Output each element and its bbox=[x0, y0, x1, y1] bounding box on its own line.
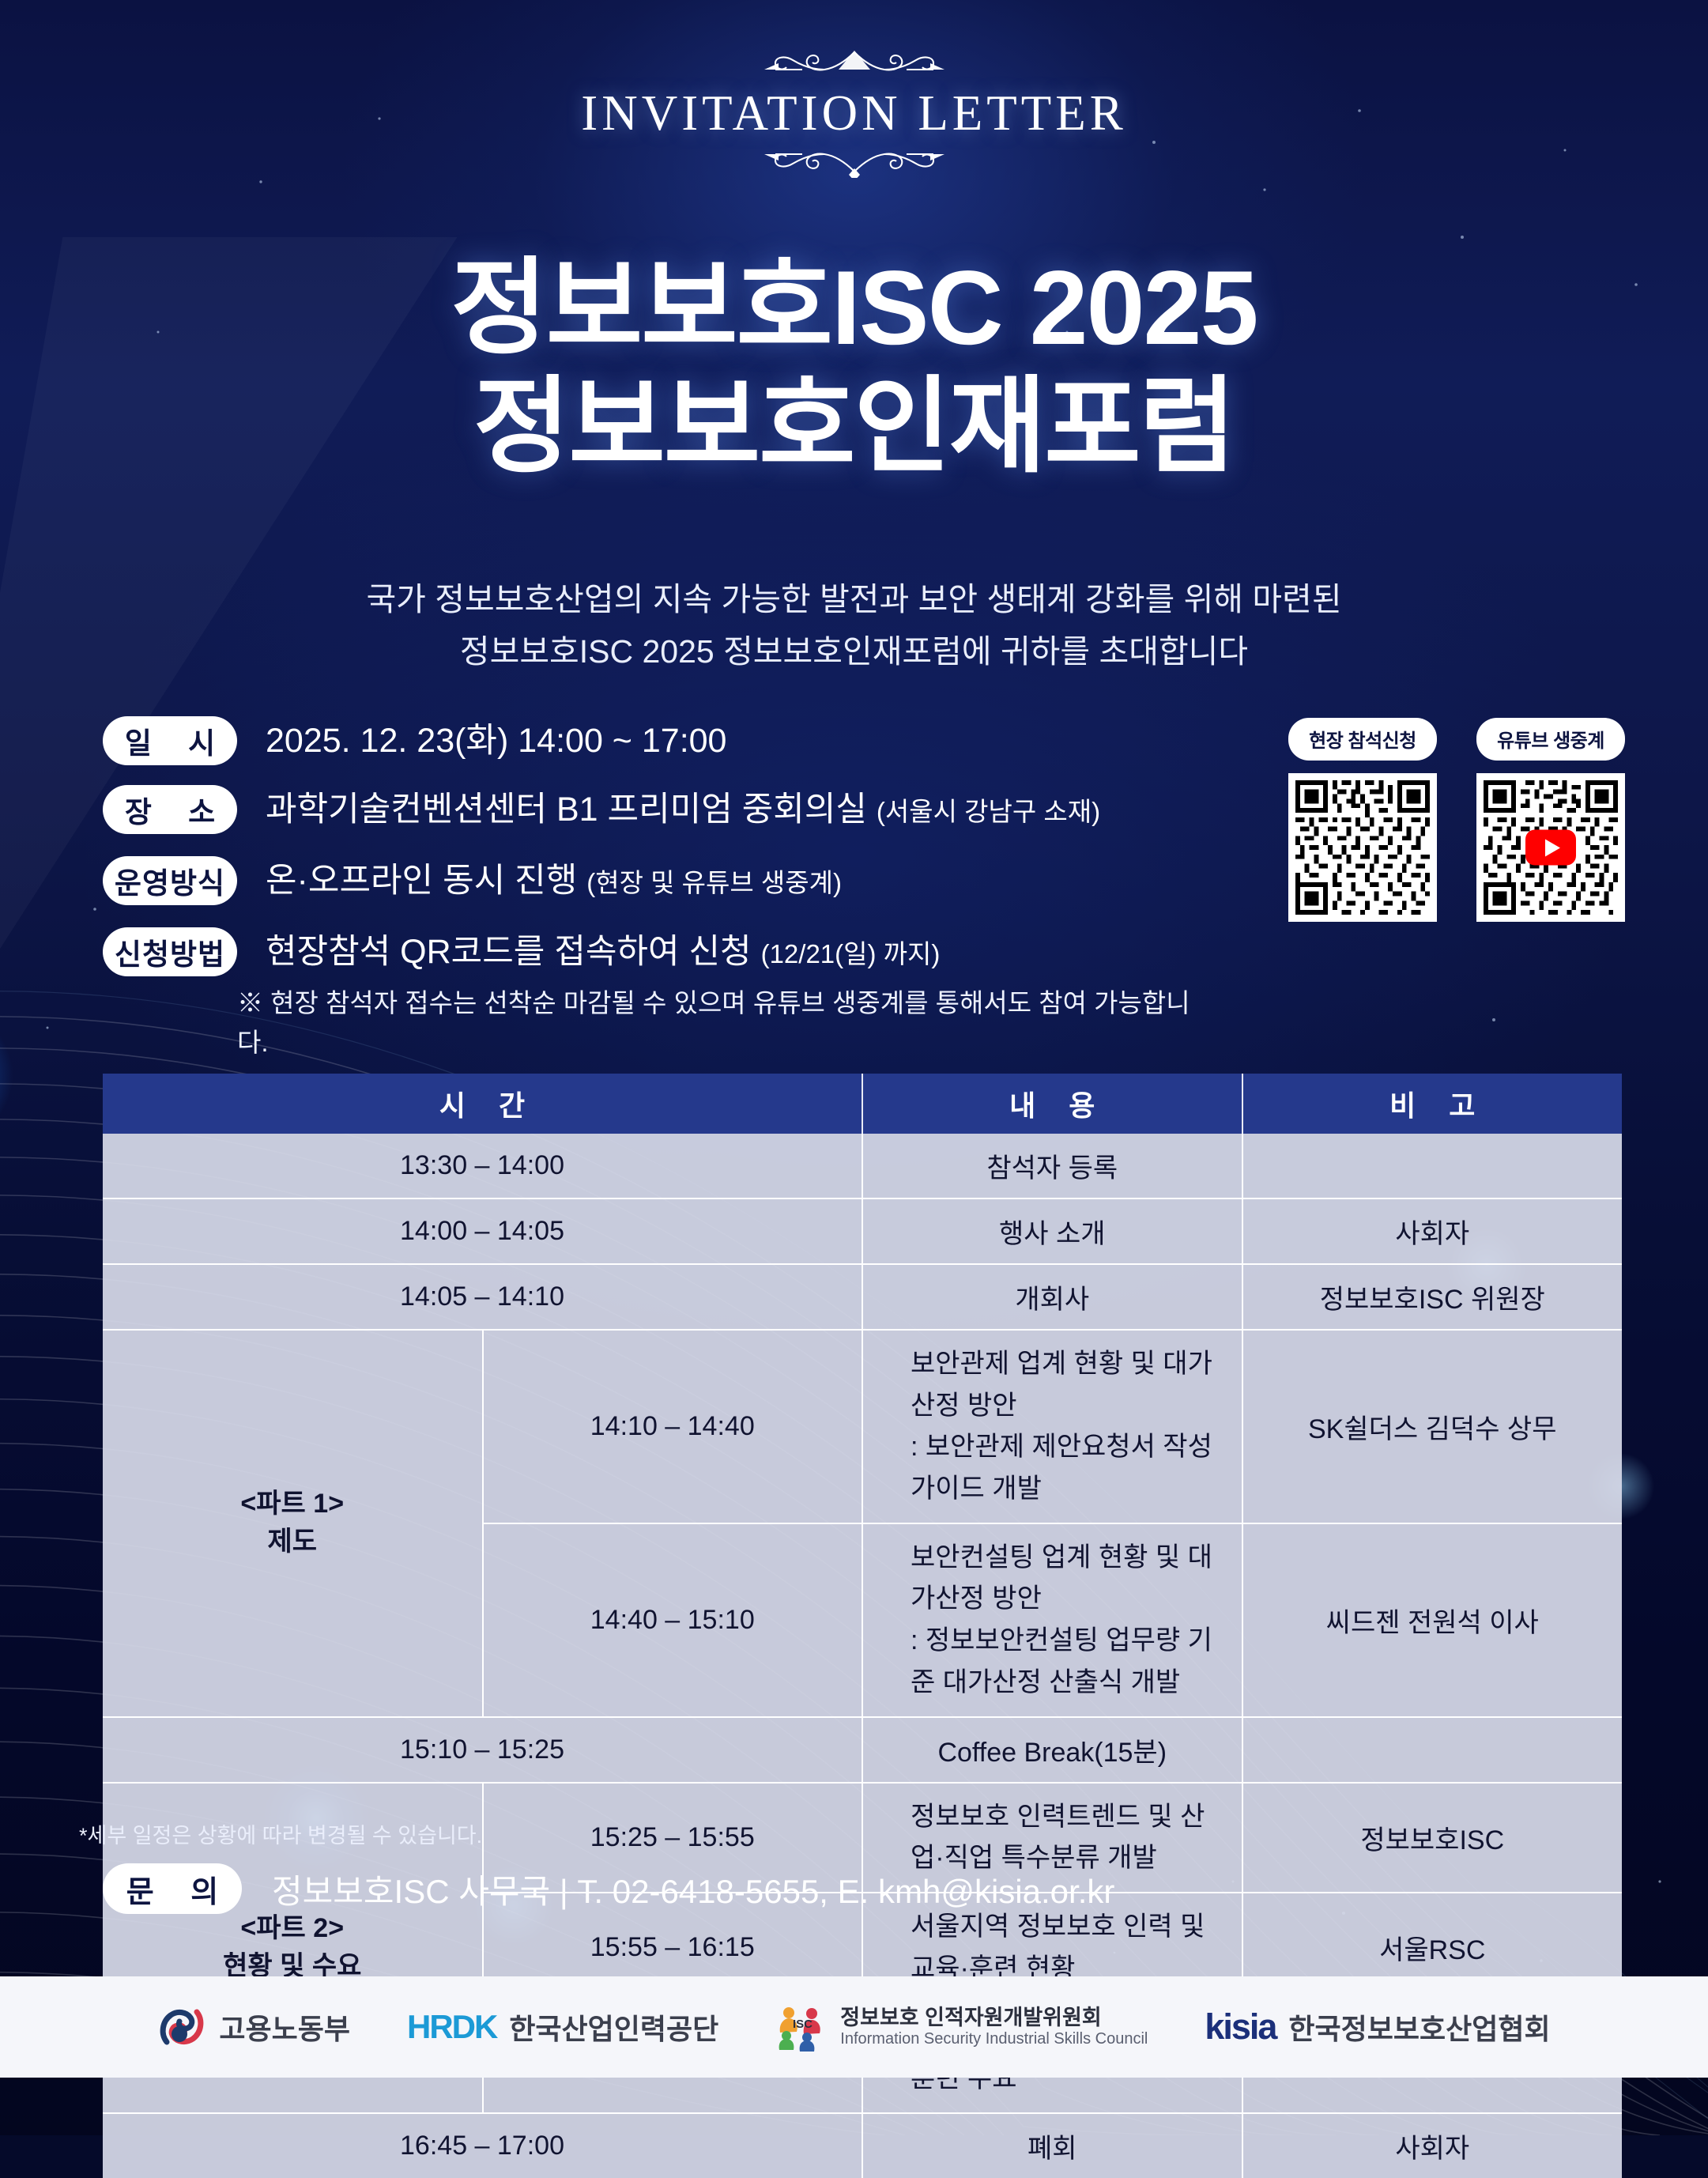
row-content: 행사 소개 bbox=[862, 1198, 1242, 1264]
info-value-apply: 현장참석 QR코드를 접속하여 신청 (12/21(일) 까지) bbox=[266, 927, 1209, 979]
info-value-datetime-text: 2025. 12. 23(화) 14:00 ~ 17:00 bbox=[266, 722, 726, 760]
row-time: 13:30 – 14:00 bbox=[103, 1134, 862, 1198]
row-note: 정보보호ISC 위원장 bbox=[1242, 1264, 1623, 1330]
info-note: ※ 현장 참석자 접수는 선착순 마감될 수 있으며 유튜브 생중계를 통해서도… bbox=[237, 983, 1209, 1062]
row-content: 참석자 등록 bbox=[862, 1134, 1242, 1198]
qr-box-onsite[interactable] bbox=[1288, 773, 1437, 922]
row-content: 보안관제 업계 현황 및 대가산정 방안 : 보안관제 제안요청서 작성가이드 … bbox=[862, 1330, 1242, 1523]
logo-kisia-label: 한국정보보호산업협회 bbox=[1288, 2006, 1550, 2048]
row-time: 14:10 – 14:40 bbox=[483, 1330, 863, 1523]
row-note bbox=[1242, 1717, 1623, 1783]
info-value-format: 온·오프라인 동시 진행 (현장 및 유튜브 생중계) bbox=[266, 856, 842, 908]
info-value-datetime: 2025. 12. 23(화) 14:00 ~ 17:00 bbox=[266, 716, 726, 765]
row-note: 씨드젠 전원석 이사 bbox=[1242, 1523, 1623, 1717]
row-content: 개회사 bbox=[862, 1264, 1242, 1330]
table-row: 14:05 – 14:10 개회사 정보보호ISC 위원장 bbox=[103, 1264, 1622, 1330]
info-value-apply-suffix: (12/21(일) 까지) bbox=[761, 939, 941, 968]
qr-code-icon bbox=[1295, 780, 1430, 915]
row-note: 정보보호ISC bbox=[1242, 1783, 1623, 1893]
table-row: 13:30 – 14:00 참석자 등록 bbox=[103, 1134, 1622, 1198]
logo-hrdk: HRDK 한국산업인력공단 bbox=[407, 2006, 718, 2048]
info-label-venue: 장 소 bbox=[103, 785, 237, 834]
main-title-line2: 정보보호인재포럼 bbox=[0, 368, 1708, 486]
contact-text: 정보보호ISC 사무국 | T. 02-6418-5655, E. kmh@ki… bbox=[272, 1865, 1114, 1913]
row-content-line1: 보안관제 업계 현황 및 대가산정 방안 bbox=[911, 1343, 1227, 1426]
qr-card-onsite[interactable]: 현장 참석신청 bbox=[1288, 718, 1437, 922]
part-label-1: <파트 1> 제도 bbox=[103, 1330, 483, 1717]
info-row-apply: 신청방법 현장참석 QR코드를 접속하여 신청 (12/21(일) 까지) ※ … bbox=[103, 927, 1209, 1062]
row-time: 16:45 – 17:00 bbox=[103, 2113, 862, 2178]
row-content-line1: 보안컨설팅 업계 현황 및 대가산정 방안 bbox=[911, 1537, 1227, 1620]
logo-hrdk-label: 한국산업인력공단 bbox=[509, 2006, 718, 2048]
row-note: SK쉴더스 김덕수 상무 bbox=[1242, 1330, 1623, 1523]
contact-label: 문 의 bbox=[103, 1863, 242, 1914]
row-time: 14:05 – 14:10 bbox=[103, 1264, 862, 1330]
info-label-apply: 신청방법 bbox=[103, 927, 237, 976]
hrdk-icon: HRDK bbox=[407, 2008, 496, 2046]
info-value-format-text: 온·오프라인 동시 진행 bbox=[266, 862, 577, 900]
subtitle-line1: 국가 정보보호산업의 지속 가능한 발전과 보안 생태계 강화를 위해 마련된 bbox=[0, 573, 1708, 625]
qr-box-youtube[interactable] bbox=[1476, 773, 1625, 922]
table-header-content: 내 용 bbox=[862, 1074, 1242, 1134]
isc-people-icon: ISC bbox=[775, 2002, 828, 2052]
row-time: 14:40 – 15:10 bbox=[483, 1523, 863, 1717]
info-label-datetime: 일 시 bbox=[103, 716, 237, 765]
row-time: 15:10 – 15:25 bbox=[103, 1717, 862, 1783]
table-row: 14:00 – 14:05 행사 소개 사회자 bbox=[103, 1198, 1622, 1264]
logo-kisia: kisia 한국정보보호산업협회 bbox=[1205, 2006, 1550, 2048]
qr-card-youtube[interactable]: 유튜브 생중계 bbox=[1476, 718, 1625, 922]
info-value-venue-text: 과학기술컨벤션센터 B1 프리미엄 중회의실 bbox=[266, 791, 867, 829]
table-row-part1-a: <파트 1> 제도 14:10 – 14:40 보안관제 업계 현황 및 대가산… bbox=[103, 1330, 1622, 1523]
logo-moel: 고용노동부 bbox=[157, 2002, 350, 2052]
info-label-format: 운영방식 bbox=[103, 856, 237, 905]
info-value-venue-suffix: (서울시 강남구 소재) bbox=[877, 797, 1100, 826]
row-content: 폐회 bbox=[862, 2113, 1242, 2178]
subtitle: 국가 정보보호산업의 지속 가능한 발전과 보안 생태계 강화를 위해 마련된 … bbox=[0, 573, 1708, 678]
row-note bbox=[1242, 1134, 1623, 1198]
main-title: 정보보호ISC 2025 정보보호인재포럼 bbox=[0, 249, 1708, 487]
table-row: 16:45 – 17:00 폐회 사회자 bbox=[103, 2113, 1622, 2178]
contact-block: 문 의 정보보호ISC 사무국 | T. 02-6418-5655, E. km… bbox=[103, 1863, 1114, 1914]
row-note: 사회자 bbox=[1242, 1198, 1623, 1264]
schedule-footnote: *세부 일정은 상황에 따라 변경될 수 있습니다. bbox=[79, 1818, 482, 1849]
row-content-line2: : 보안관제 제안요청서 작성가이드 개발 bbox=[911, 1426, 1227, 1509]
table-header-time: 시 간 bbox=[103, 1074, 862, 1134]
table-row-break: 15:10 – 15:25 Coffee Break(15분) bbox=[103, 1717, 1622, 1783]
part-label-1-line1: <파트 1> bbox=[117, 1485, 468, 1523]
logo-isc-label-en: Information Security Industrial Skills C… bbox=[840, 2030, 1148, 2048]
info-value-venue: 과학기술컨벤션센터 B1 프리미엄 중회의실 (서울시 강남구 소재) bbox=[266, 785, 1100, 836]
info-row-format: 운영방식 온·오프라인 동시 진행 (현장 및 유튜브 생중계) bbox=[103, 856, 1209, 908]
event-info-block: 일 시 2025. 12. 23(화) 14:00 ~ 17:00 장 소 과학… bbox=[103, 716, 1209, 1081]
info-value-apply-text: 현장참석 QR코드를 접속하여 신청 bbox=[266, 933, 752, 971]
part-label-1-line2: 제도 bbox=[117, 1523, 468, 1561]
qr-code-area: 현장 참석신청 bbox=[1288, 718, 1625, 922]
logo-moel-label: 고용노동부 bbox=[219, 2006, 350, 2048]
logo-isc-labels: 정보보호 인적자원개발위원회 Information Security Indu… bbox=[840, 2006, 1148, 2048]
info-value-format-suffix: (현장 및 유튜브 생중계) bbox=[586, 868, 842, 897]
table-header-note: 비 고 bbox=[1242, 1074, 1623, 1134]
row-content: 보안컨설팅 업계 현황 및 대가산정 방안 : 정보보안컨설팅 업무량 기준 대… bbox=[862, 1523, 1242, 1717]
info-row-venue: 장 소 과학기술컨벤션센터 B1 프리미엄 중회의실 (서울시 강남구 소재) bbox=[103, 785, 1209, 836]
flourish-ornament-bottom-icon bbox=[720, 137, 989, 178]
svg-text:ISC: ISC bbox=[793, 2018, 813, 2031]
invitation-header: Invitation Letter bbox=[0, 46, 1708, 178]
row-time: 14:00 – 14:05 bbox=[103, 1198, 862, 1264]
logo-isc-label-ko: 정보보호 인적자원개발위원회 bbox=[840, 2006, 1148, 2030]
youtube-play-icon bbox=[1525, 830, 1576, 866]
kisia-icon: kisia bbox=[1205, 2006, 1276, 2048]
row-content-line2: : 정보보안컨설팅 업무량 기준 대가산정 산출식 개발 bbox=[911, 1620, 1227, 1703]
info-row-datetime: 일 시 2025. 12. 23(화) 14:00 ~ 17:00 bbox=[103, 716, 1209, 765]
qr-label-onsite: 현장 참석신청 bbox=[1288, 718, 1437, 761]
part-label-2-line1: <파트 2> bbox=[117, 1910, 468, 1948]
taegeuk-icon bbox=[157, 2002, 206, 2052]
qr-label-youtube: 유튜브 생중계 bbox=[1476, 718, 1625, 761]
row-content-coffee-break: Coffee Break(15분) bbox=[862, 1717, 1242, 1783]
info-value-apply-wrap: 현장참석 QR코드를 접속하여 신청 (12/21(일) 까지) ※ 현장 참석… bbox=[237, 927, 1209, 1062]
row-note: 사회자 bbox=[1242, 2113, 1623, 2178]
invitation-title: Invitation Letter bbox=[0, 89, 1708, 138]
footer-logo-band: 고용노동부 HRDK 한국산업인력공단 ISC 정보보호 인적자원개발위원회 I… bbox=[0, 1976, 1708, 2078]
logo-isc: ISC 정보보호 인적자원개발위원회 Information Security … bbox=[775, 2002, 1148, 2052]
main-title-line1: 정보보호ISC 2025 bbox=[0, 249, 1708, 368]
table-header-row: 시 간 내 용 비 고 bbox=[103, 1074, 1622, 1134]
subtitle-line2: 정보보호ISC 2025 정보보호인재포럼에 귀하를 초대합니다 bbox=[0, 625, 1708, 678]
